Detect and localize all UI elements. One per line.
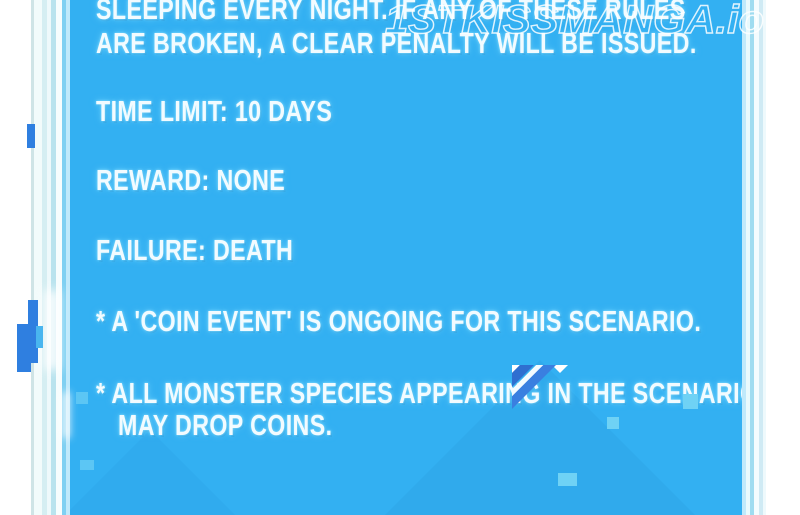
frame-right-stripe-6: [763, 0, 766, 515]
system-window-body: SLEEPING EVERY NIGHT. IF ANY OF THESE RU…: [70, 0, 742, 515]
rule-text-line-2: ARE BROKEN, A CLEAR PENALTY WILL BE ISSU…: [96, 27, 697, 61]
frame-right-stripe-2: [746, 0, 750, 515]
monster-coin-note-line-1: * ALL MONSTER SPECIES APPEARING IN THE S…: [96, 377, 742, 411]
frame-right-stripe-4: [754, 0, 759, 515]
frame-left-stripe-3: [42, 0, 47, 515]
frame-right-stripe-3: [750, 0, 754, 515]
left-deco-block-4: [36, 326, 43, 348]
left-deco-block-1: [27, 124, 35, 148]
frame-right-stripe-1: [742, 0, 746, 515]
coin-event-note-line: * A 'COIN EVENT' IS ONGOING FOR THIS SCE…: [96, 305, 701, 339]
left-glow-2: [62, 392, 70, 438]
monster-coin-note-line-2: MAY DROP COINS.: [118, 409, 332, 443]
left-glow-1: [44, 290, 60, 370]
failure-line: FAILURE: DEATH: [96, 234, 293, 268]
frame-left-stripe-1: [31, 0, 34, 515]
left-deco-block-2: [28, 300, 38, 363]
system-message-text-block: SLEEPING EVERY NIGHT. IF ANY OF THESE RU…: [70, 0, 742, 515]
frame-left-stripe-4: [47, 0, 51, 515]
left-deco-block-3: [17, 324, 31, 372]
frame-left-stripe-2: [34, 0, 42, 515]
manhwa-panel-root: SLEEPING EVERY NIGHT. IF ANY OF THESE RU…: [0, 0, 800, 515]
reward-line: REWARD: NONE: [96, 164, 285, 198]
frame-left-stripe-7: [62, 0, 66, 515]
frame-right-stripe-5: [759, 0, 763, 515]
time-limit-line: TIME LIMIT: 10 DAYS: [96, 95, 332, 129]
rule-text-line-1: SLEEPING EVERY NIGHT. IF ANY OF THESE RU…: [96, 0, 686, 27]
frame-left-stripe-6: [56, 0, 62, 515]
frame-left-stripe-5: [51, 0, 56, 515]
